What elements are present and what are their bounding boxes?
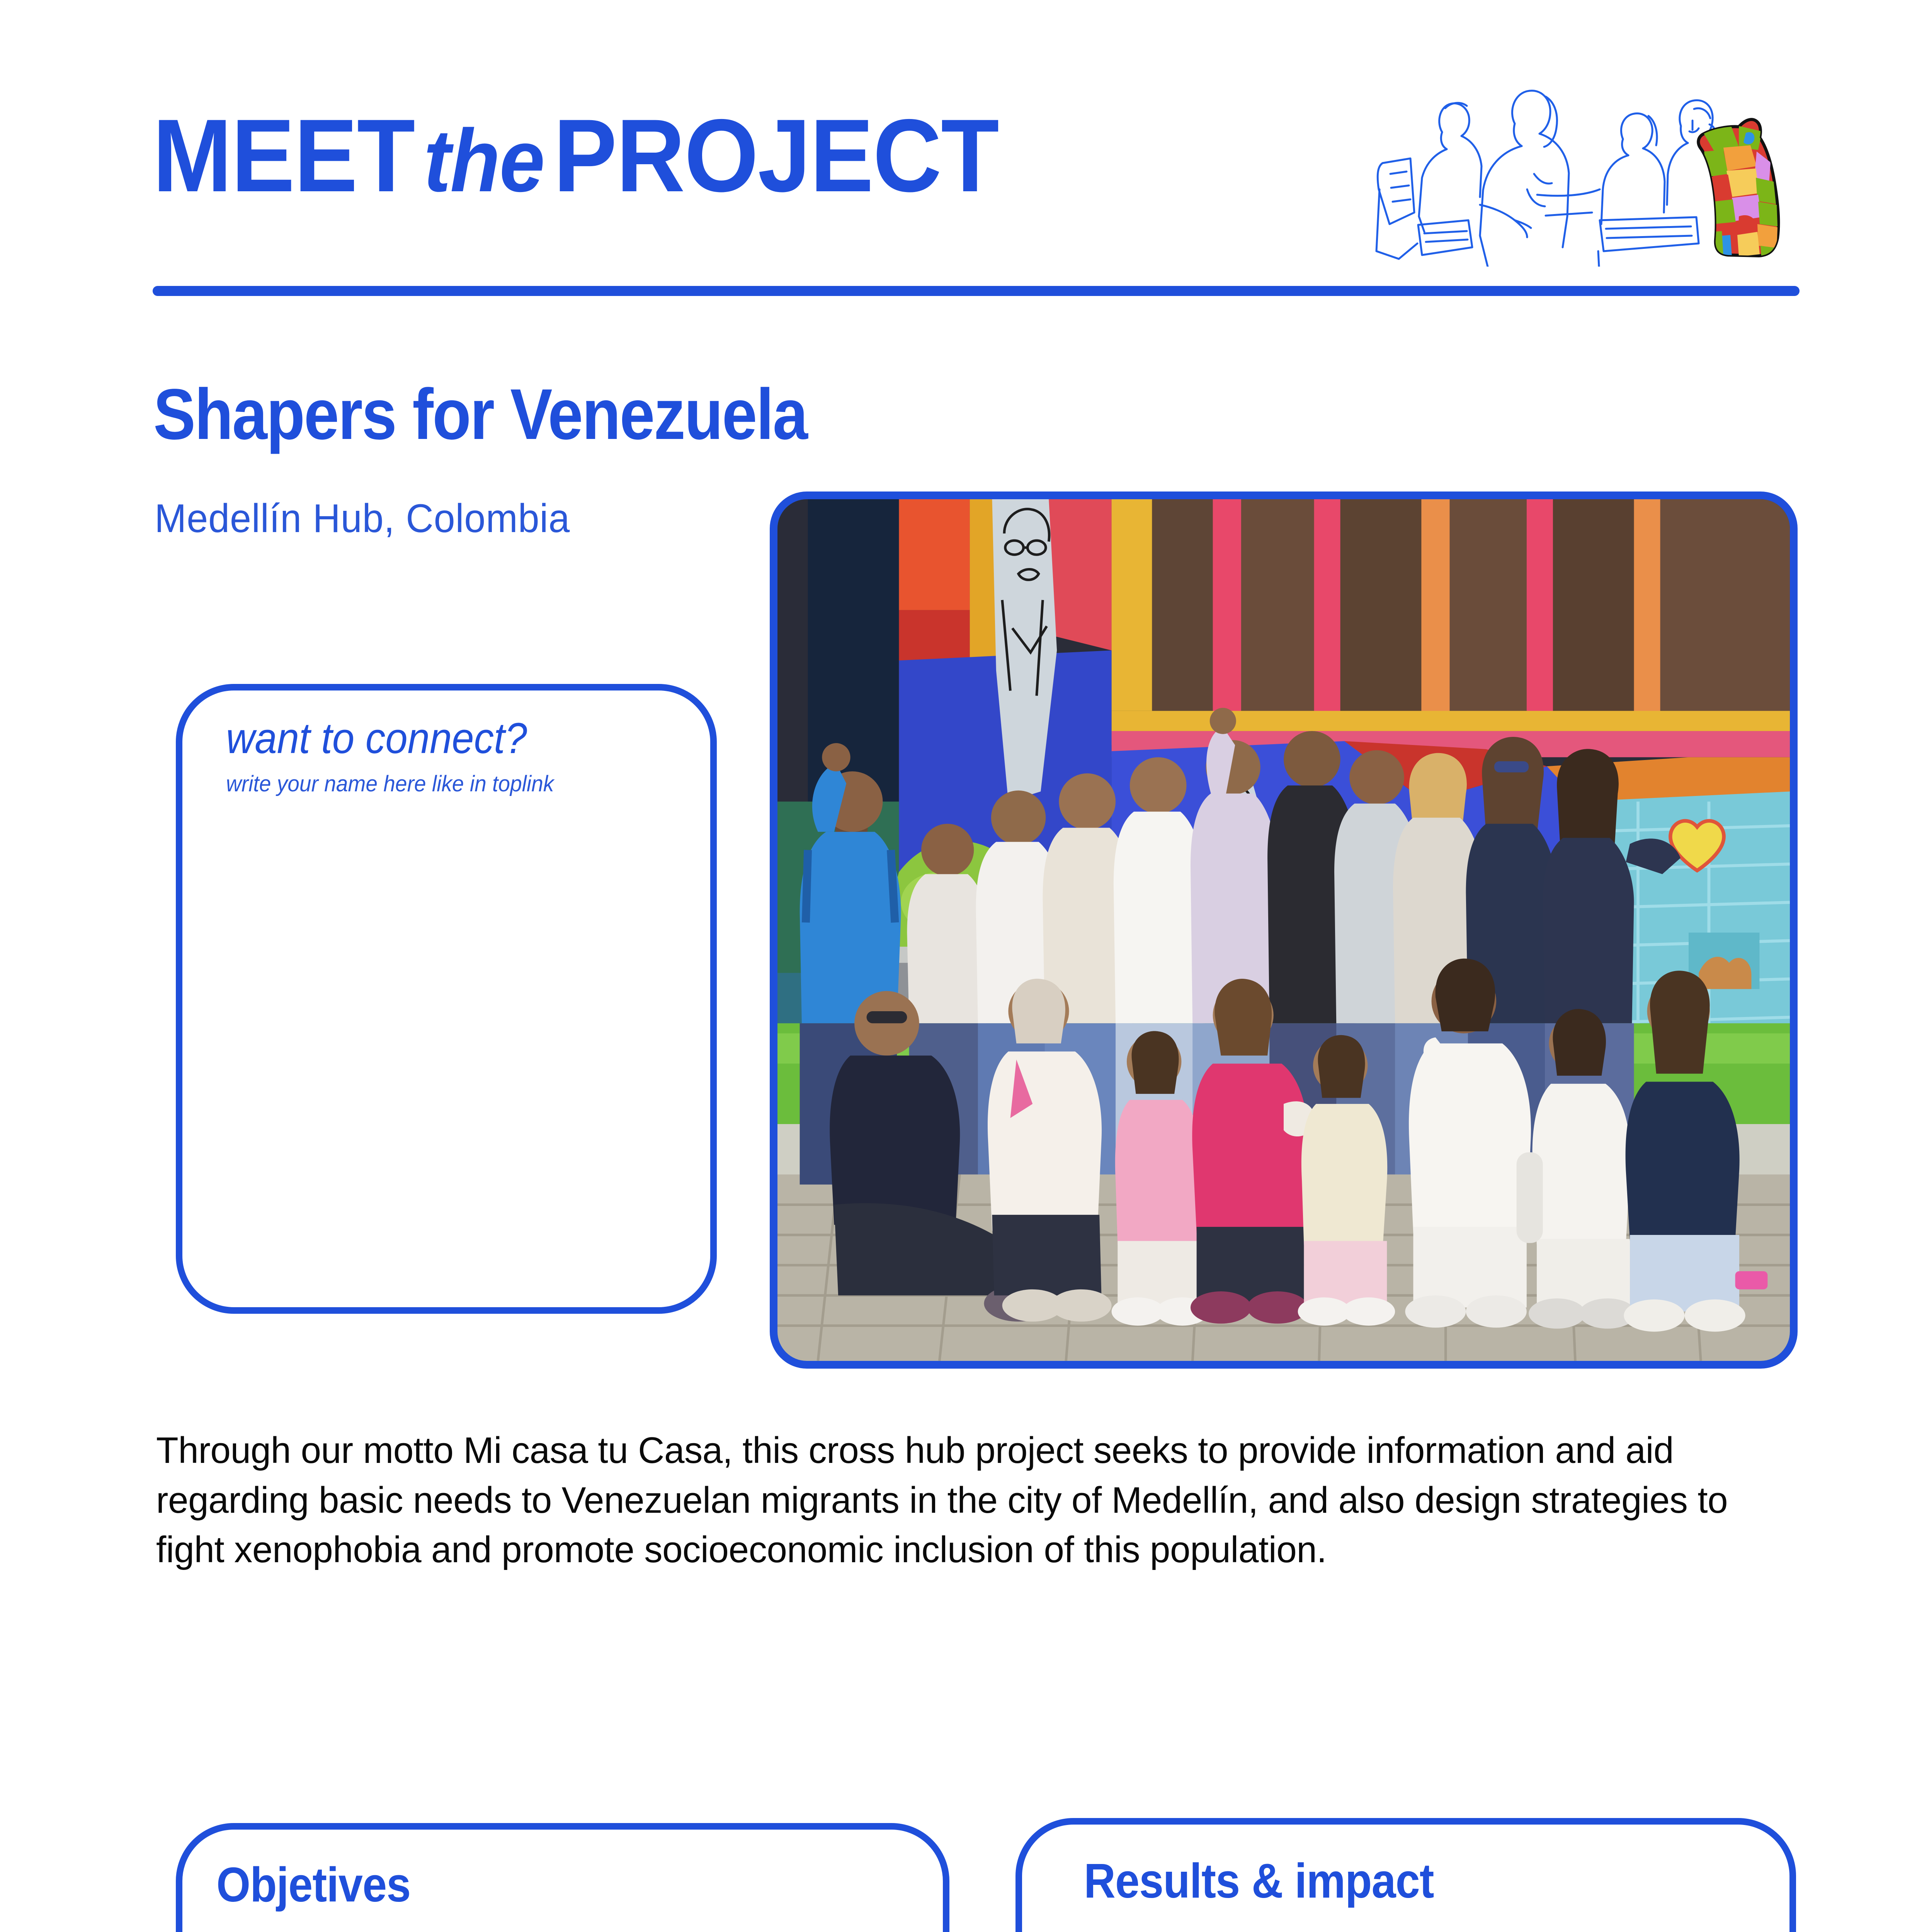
page-title: MEETthePROJECT [153, 104, 998, 207]
title-word-meet: MEET [153, 97, 415, 213]
results-heading: Results & impact [1084, 1857, 1434, 1905]
title-word-project: PROJECT [553, 97, 998, 213]
header-divider [153, 286, 1800, 296]
connect-hint: write your name here like in toplink [226, 773, 554, 795]
project-subtitle: Medellín Hub, Colombia [155, 498, 570, 539]
project-description: Through our motto Mi casa tu Casa, this … [156, 1426, 1770, 1575]
objectives-heading: Objetives [216, 1861, 410, 1909]
title-word-the: the [415, 111, 554, 210]
connect-title: want to connect? [226, 717, 527, 760]
people-at-table-illustration-icon [1352, 50, 1816, 267]
project-photo: NOSLARA ELARTE [770, 492, 1798, 1369]
project-title: Shapers for Venezuela [153, 379, 807, 451]
